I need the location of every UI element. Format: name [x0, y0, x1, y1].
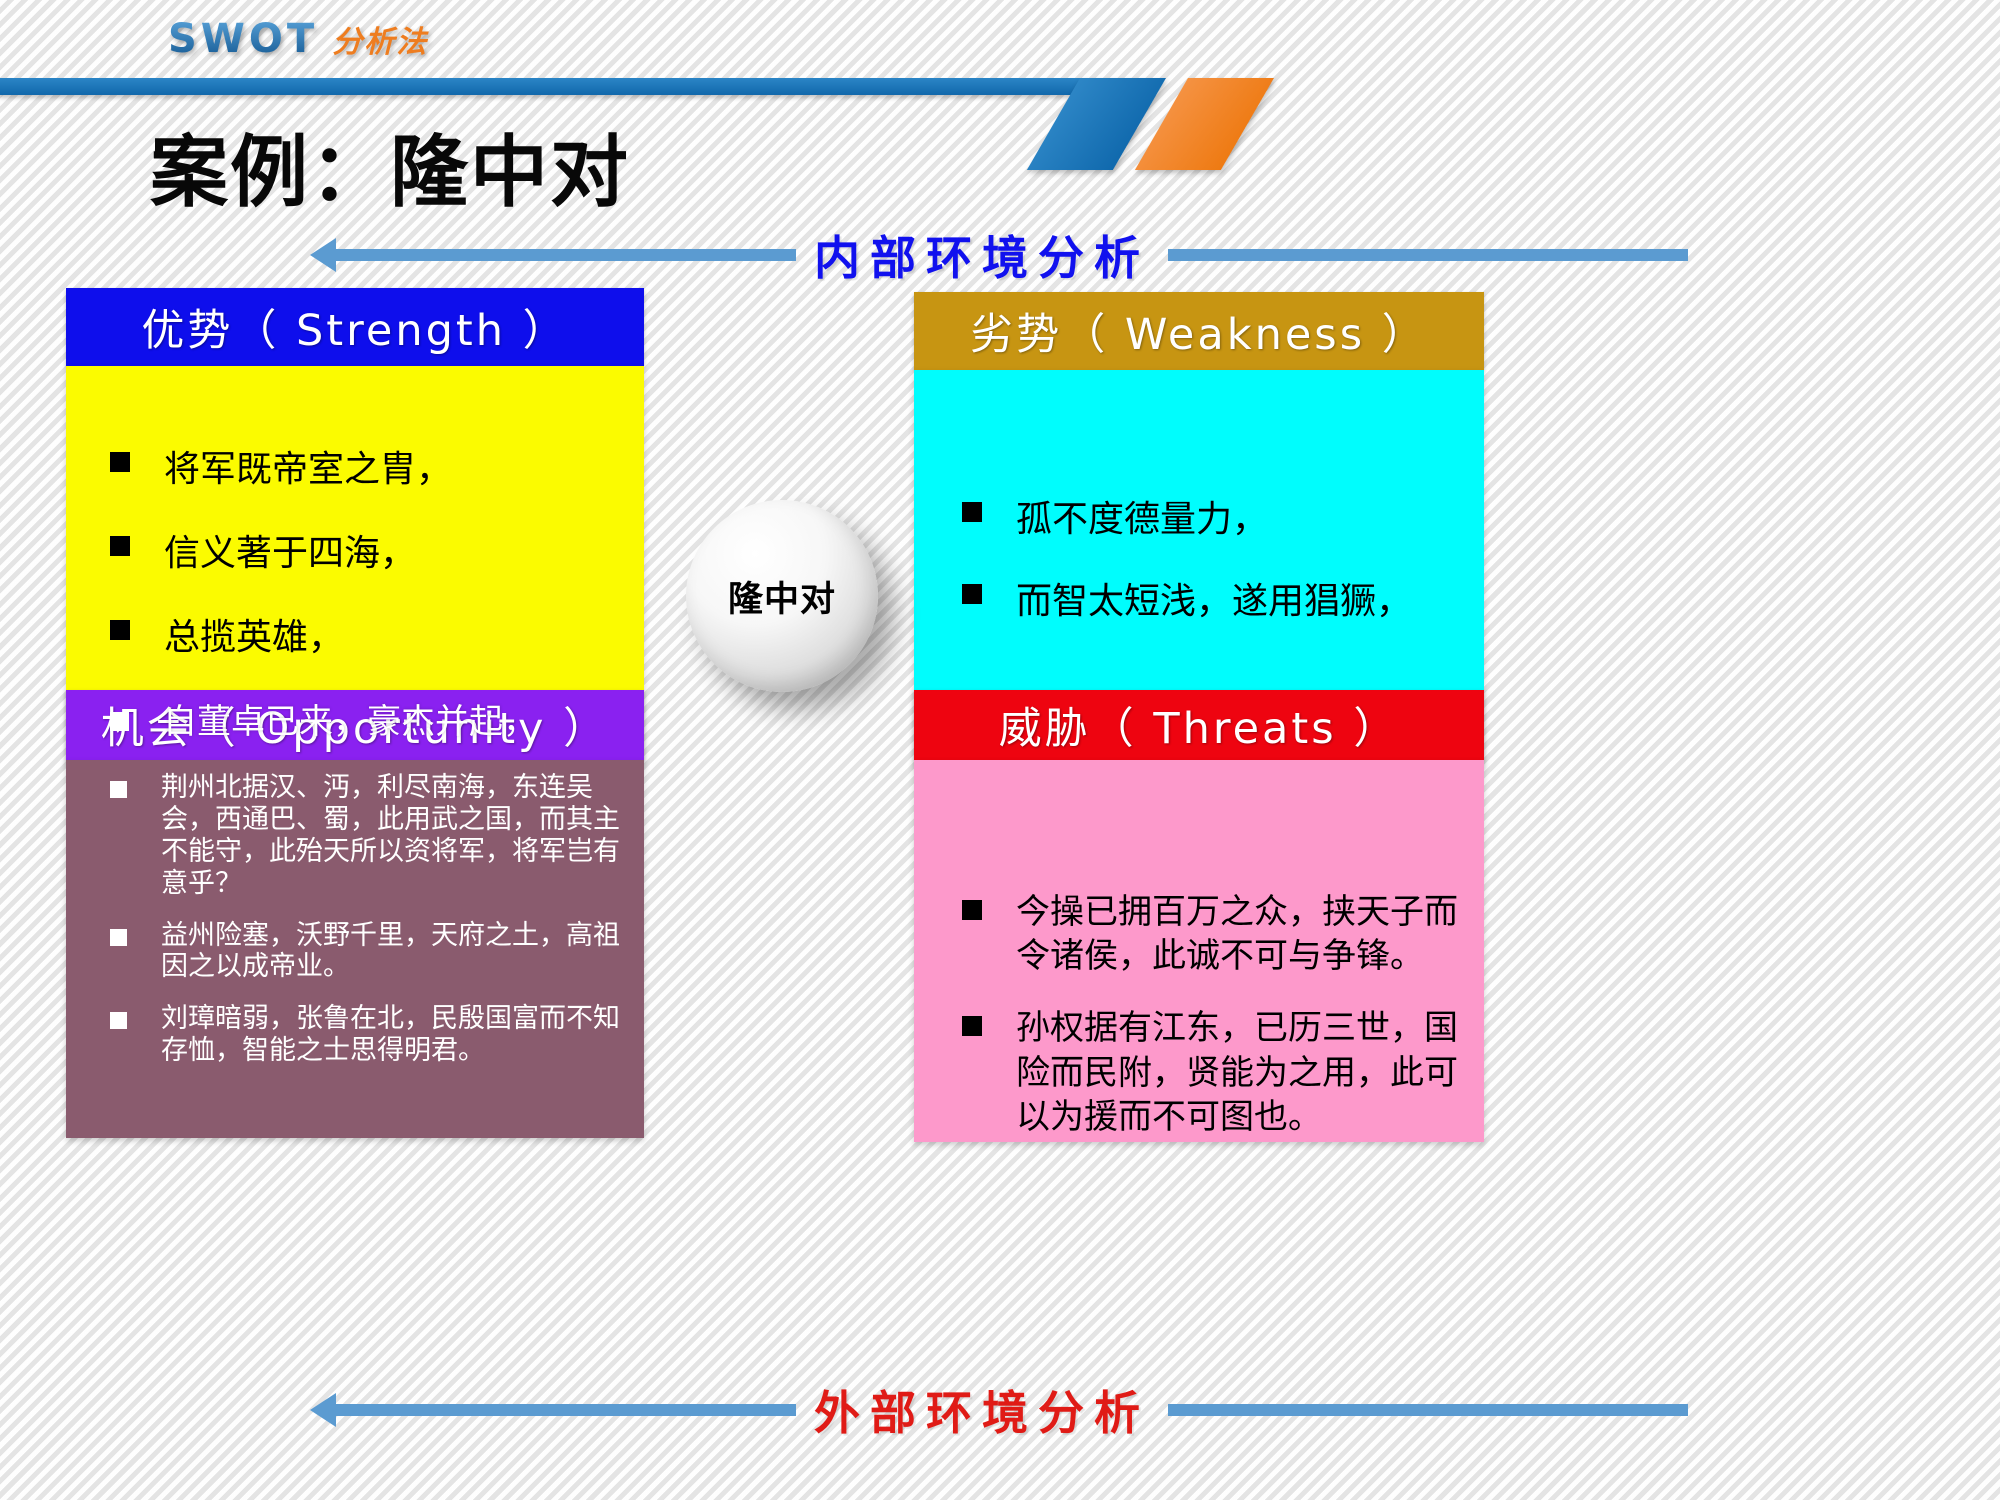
- arrow-shaft-right: [1168, 249, 1688, 261]
- weakness-list: 孤不度德量力， 而智太短浅，遂用猖獗，: [914, 490, 1484, 624]
- arrow-left-head-icon: [310, 1393, 336, 1427]
- logo-brand-cn-text: 分析法: [332, 17, 428, 61]
- list-item: 益州险塞，沃野千里，天府之土，高祖因之以成帝业。: [66, 920, 644, 984]
- list-item: 刘璋暗弱，张鲁在北，民殷国富而不知存恤，智能之士思得明君。: [66, 1003, 644, 1067]
- header-blue-bar: [0, 78, 1088, 95]
- slide-canvas: SWOT 分析法 案例：隆中对 内部环境分析 优势（ Strength ） 将军…: [0, 0, 2000, 1500]
- threats-header: 威胁（ Threats ）: [914, 690, 1484, 760]
- threats-body: 今操已拥百万之众，挟天子而令诸侯，此诚不可与争锋。 孙权据有江东，已历三世，国险…: [914, 760, 1484, 1142]
- list-item: 孙权据有江东，已历三世，国险而民附，贤能为之用，此可以为援而不可图也。: [914, 1006, 1484, 1139]
- list-item-text: 信义著于四海，: [164, 524, 644, 576]
- list-item: 今操已拥百万之众，挟天子而令诸侯，此诚不可与争锋。: [914, 890, 1484, 978]
- list-item-text: 总揽英雄，: [164, 608, 644, 660]
- list-item-text: 荆州北据汉、沔，利尽南海，东连吴会，西通巴、蜀，此用武之国，而其主不能守，此殆天…: [161, 772, 644, 899]
- list-item-text: 自董卓已来，豪杰并起，: [163, 702, 644, 742]
- square-bullet-icon: [110, 452, 130, 472]
- arrow-shaft-left: [336, 249, 796, 261]
- list-item: 将军既帝室之胄，: [66, 440, 644, 492]
- quadrant-opportunity: 机会（ Opportunity ） 自董卓已来，豪杰并起， 荆州北据汉、沔，利尽…: [66, 690, 644, 1138]
- list-item-text: 孤不度德量力，: [1016, 490, 1484, 542]
- opportunity-list: 自董卓已来，豪杰并起， 荆州北据汉、沔，利尽南海，东连吴会，西通巴、蜀，此用武之…: [66, 764, 644, 1067]
- square-bullet-icon: [110, 620, 130, 640]
- center-sphere-label: 隆中对: [728, 571, 836, 622]
- square-bullet-icon: [962, 584, 982, 604]
- list-item-text: 而智太短浅，遂用猖獗，: [1016, 572, 1484, 624]
- internal-axis-label: 内部环境分析: [796, 222, 1168, 288]
- center-sphere: 隆中对: [686, 500, 878, 692]
- list-item: 而智太短浅，遂用猖獗，: [914, 572, 1484, 624]
- logo-brand-text: SWOT: [168, 16, 318, 62]
- square-bullet-icon: [110, 536, 130, 556]
- swot-logo: SWOT 分析法: [168, 16, 428, 62]
- list-item-text: 今操已拥百万之众，挟天子而令诸侯，此诚不可与争锋。: [1016, 890, 1484, 978]
- list-item: 信义著于四海，: [66, 524, 644, 576]
- square-bullet-icon: [962, 502, 982, 522]
- arrow-shaft-left: [336, 1404, 796, 1416]
- strength-header: 优势（ Strength ）: [66, 288, 644, 366]
- list-item-text: 刘璋暗弱，张鲁在北，民殷国富而不知存恤，智能之士思得明君。: [161, 1003, 644, 1067]
- list-item-text: 益州险塞，沃野千里，天府之土，高祖因之以成帝业。: [161, 920, 644, 984]
- internal-environment-axis: 内部环境分析: [310, 225, 1780, 285]
- external-axis-label: 外部环境分析: [796, 1377, 1168, 1443]
- opportunity-body: 自董卓已来，豪杰并起， 荆州北据汉、沔，利尽南海，东连吴会，西通巴、蜀，此用武之…: [66, 760, 644, 1138]
- page-title: 案例：隆中对: [150, 110, 630, 222]
- list-item-text: 孙权据有江东，已历三世，国险而民附，贤能为之用，此可以为援而不可图也。: [1016, 1006, 1484, 1139]
- arrow-shaft-right: [1168, 1404, 1688, 1416]
- square-bullet-icon: [110, 1012, 127, 1029]
- list-item-text: 将军既帝室之胄，: [164, 440, 644, 492]
- arrow-left-head-icon: [310, 238, 336, 272]
- square-bullet-icon: [110, 712, 129, 731]
- square-bullet-icon: [110, 781, 127, 798]
- square-bullet-icon: [962, 900, 982, 920]
- list-item: 自董卓已来，豪杰并起，: [66, 702, 644, 742]
- quadrant-threats: 威胁（ Threats ） 今操已拥百万之众，挟天子而令诸侯，此诚不可与争锋。 …: [914, 690, 1484, 1142]
- threats-list: 今操已拥百万之众，挟天子而令诸侯，此诚不可与争锋。 孙权据有江东，已历三世，国险…: [914, 890, 1484, 1139]
- square-bullet-icon: [962, 1016, 982, 1036]
- square-bullet-icon: [110, 929, 127, 946]
- weakness-header: 劣势（ Weakness ）: [914, 292, 1484, 370]
- list-item: 总揽英雄，: [66, 608, 644, 660]
- list-item: 孤不度德量力，: [914, 490, 1484, 542]
- external-environment-axis: 外部环境分析: [310, 1380, 1780, 1440]
- list-item: 荆州北据汉、沔，利尽南海，东连吴会，西通巴、蜀，此用武之国，而其主不能守，此殆天…: [66, 772, 644, 899]
